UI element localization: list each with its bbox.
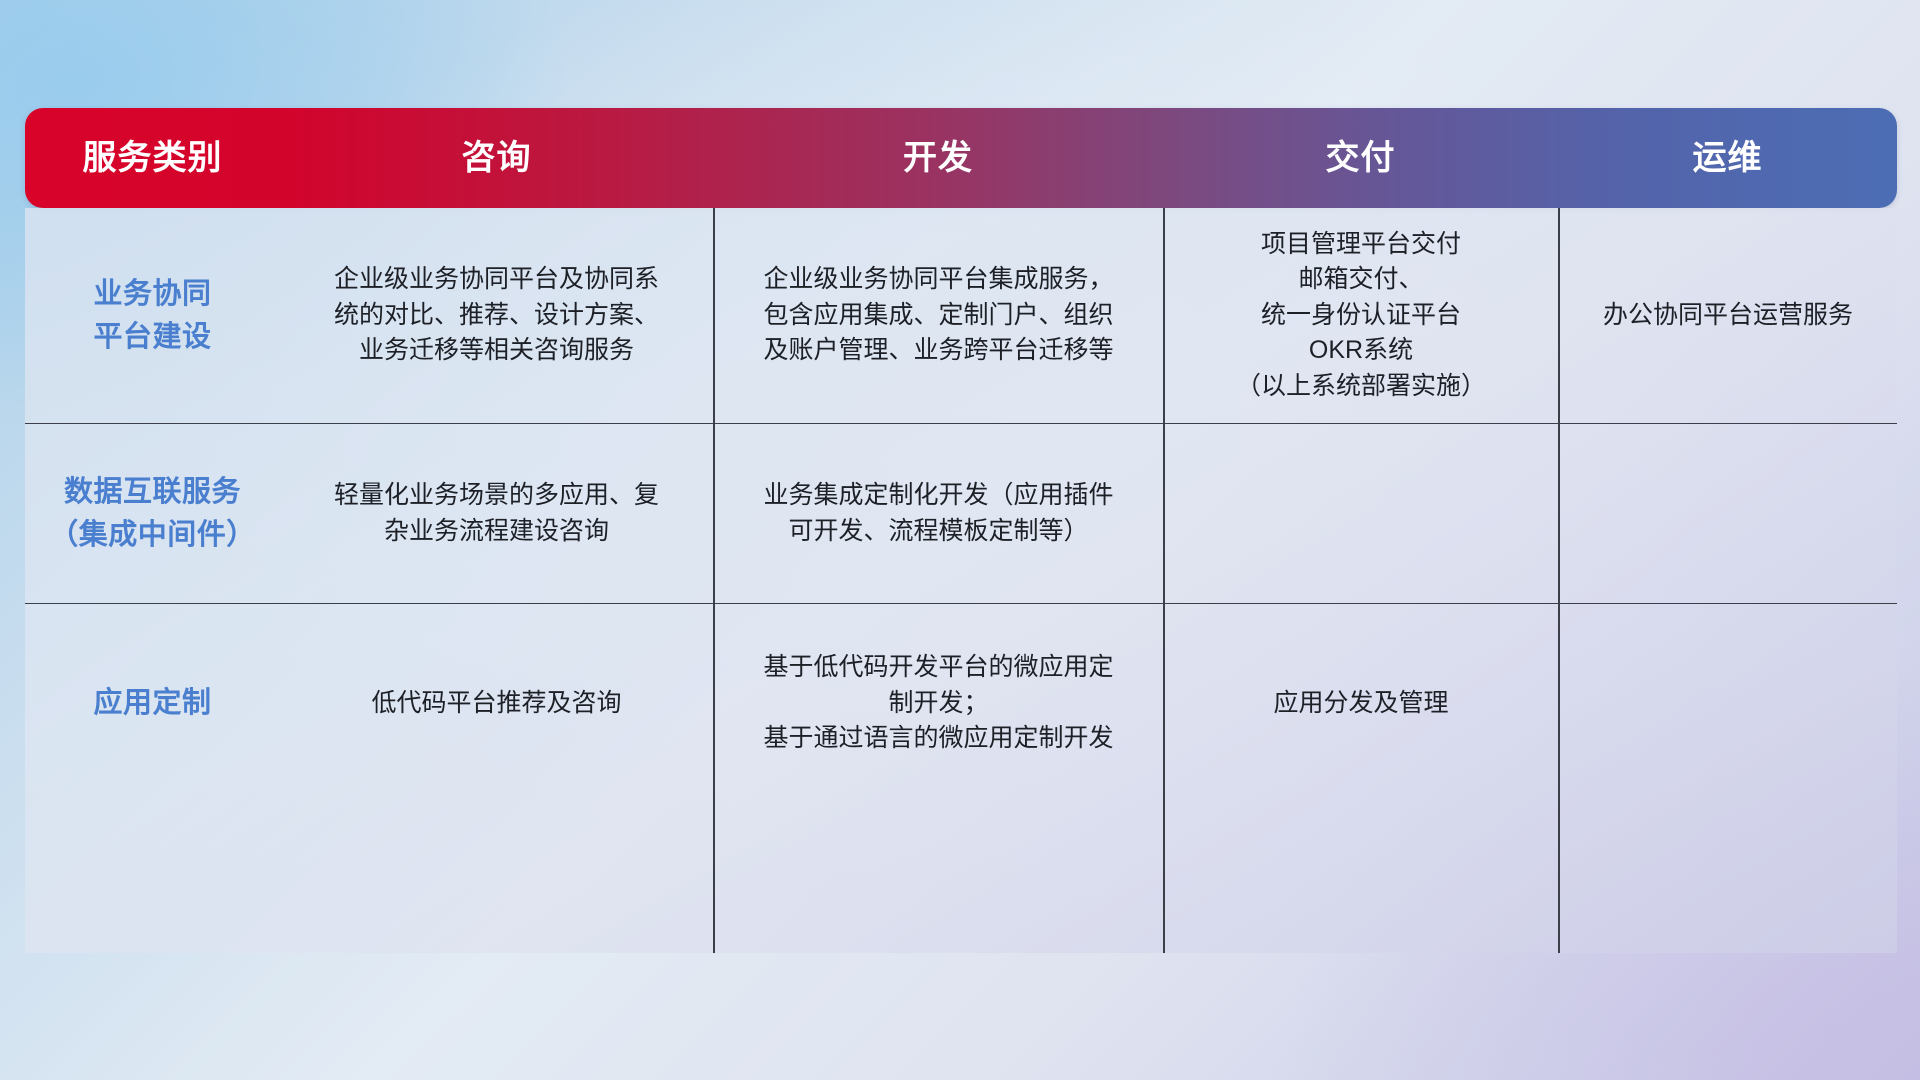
cell-consulting-row1: 轻量化业务场景的多应用、复 杂业务流程建设咨询: [280, 424, 713, 603]
table-header-row: 服务类别 咨询 开发 交付 运维: [25, 108, 1897, 208]
column-header-consulting: 咨询: [280, 141, 713, 175]
cell-operations-row1: [1558, 424, 1897, 603]
table-row: 数据互联服务 （集成中间件） 轻量化业务场景的多应用、复 杂业务流程建设咨询 业…: [25, 423, 1897, 603]
row-label-data-interconnection: 数据互联服务 （集成中间件）: [25, 424, 280, 603]
cell-consulting-row2: 低代码平台推荐及咨询: [280, 604, 713, 803]
column-header-delivery: 交付: [1163, 141, 1558, 175]
cell-operations-row0: 办公协同平台运营服务: [1558, 208, 1897, 423]
cell-delivery-row1: [1163, 424, 1558, 603]
cell-operations-row2: [1558, 604, 1897, 803]
cell-development-row1: 业务集成定制化开发（应用插件 可开发、流程模板定制等）: [713, 424, 1163, 603]
cell-consulting-row0: 企业级业务协同平台及协同系 统的对比、推荐、设计方案、 业务迁移等相关咨询服务: [280, 208, 713, 423]
table-row: 业务协同 平台建设 企业级业务协同平台及协同系 统的对比、推荐、设计方案、 业务…: [25, 208, 1897, 423]
row-label-application-customization: 应用定制: [25, 604, 280, 803]
slide-canvas: 服务类别 咨询 开发 交付 运维 业务协同 平台建设 企业级业务协同平台及协同系…: [0, 0, 1920, 1080]
column-header-operations: 运维: [1558, 141, 1897, 175]
cell-delivery-row2: 应用分发及管理: [1163, 604, 1558, 803]
column-header-service-category: 服务类别: [25, 141, 280, 175]
cell-delivery-row0: 项目管理平台交付 邮箱交付、 统一身份认证平台 OKR系统 （以上系统部署实施）: [1163, 208, 1558, 423]
column-header-development: 开发: [713, 141, 1163, 175]
table-body: 业务协同 平台建设 企业级业务协同平台及协同系 统的对比、推荐、设计方案、 业务…: [25, 208, 1897, 953]
cell-development-row0: 企业级业务协同平台集成服务， 包含应用集成、定制门户、组织 及账户管理、业务跨平…: [713, 208, 1163, 423]
cell-development-row2: 基于低代码开发平台的微应用定 制开发； 基于通过语言的微应用定制开发: [713, 604, 1163, 803]
row-label-business-collaboration: 业务协同 平台建设: [25, 208, 280, 423]
table-row: 应用定制 低代码平台推荐及咨询 基于低代码开发平台的微应用定 制开发； 基于通过…: [25, 603, 1897, 803]
